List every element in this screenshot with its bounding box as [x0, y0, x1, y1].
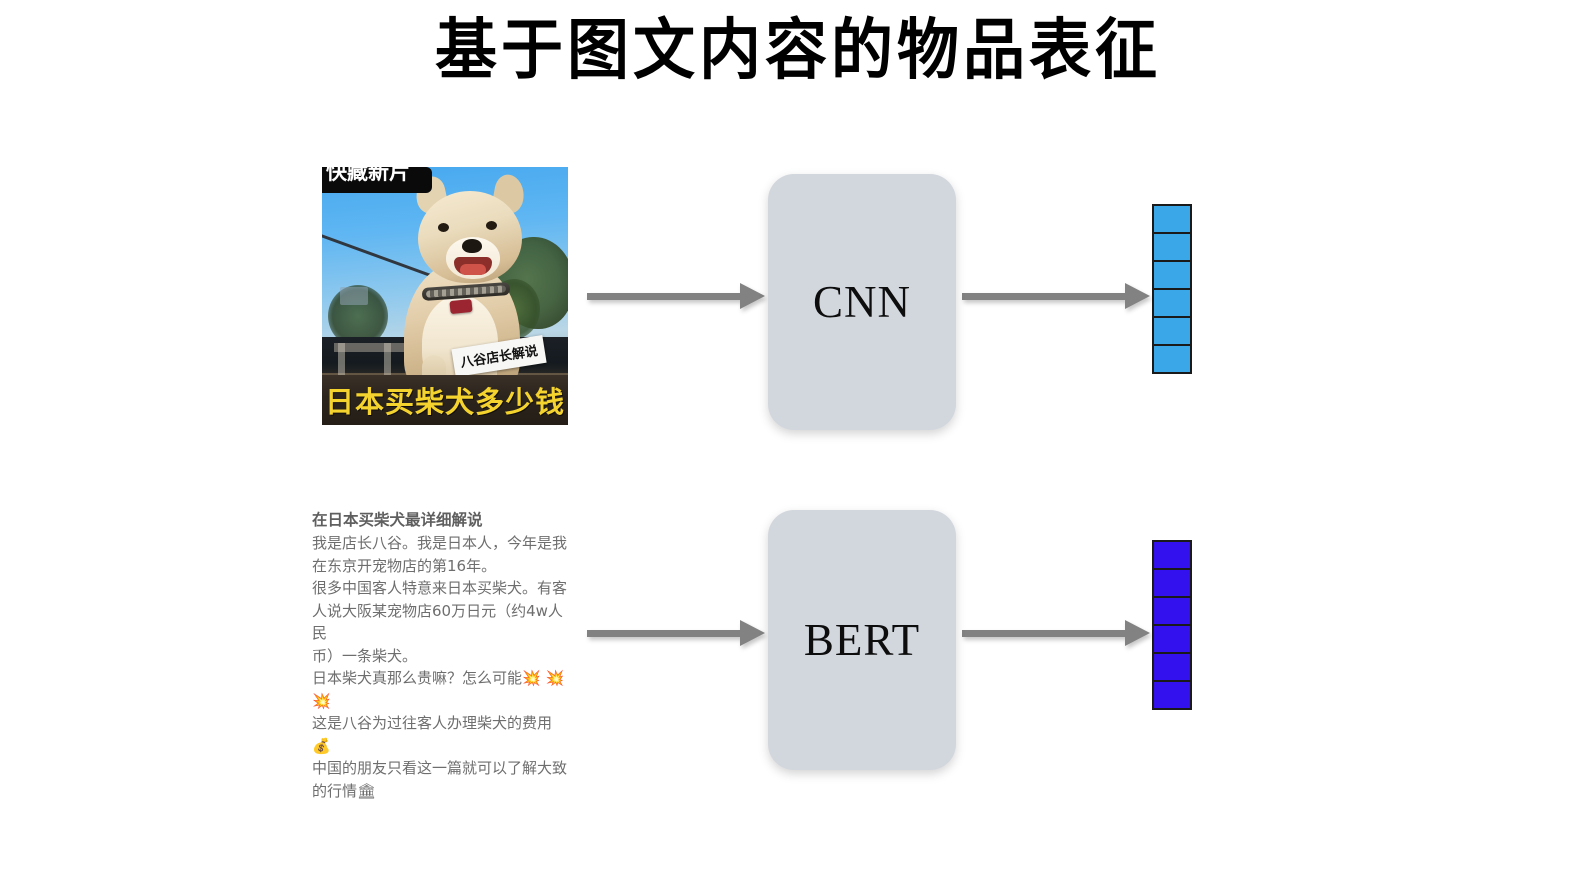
embedding-cell — [1152, 624, 1192, 654]
text-input-block: 在日本买柴犬最详细解说 我是店长八谷。我是日本人，今年是我 在东京开宠物店的第1… — [312, 509, 570, 802]
arrow-text-to-bert — [587, 620, 765, 646]
bert-model-box: BERT — [768, 510, 956, 770]
text-input-line: 很多中国客人特意来日本买柴犬。有客 — [312, 577, 570, 600]
text-input-line: 的行情🏛 — [312, 780, 570, 803]
text-input-line: 在东京开宠物店的第16年。 — [312, 555, 570, 578]
bert-model-label: BERT — [804, 614, 920, 666]
arrow-head — [1125, 620, 1150, 646]
cnn-model-label: CNN — [813, 276, 911, 328]
arrow-head — [1125, 283, 1150, 309]
dog-tag-icon — [449, 299, 472, 314]
thumbnail-caption-text: 日本买柴犬多少钱 — [325, 379, 565, 421]
collar-studs — [426, 285, 506, 298]
cnn-model-box: CNN — [768, 174, 956, 430]
embedding-cell — [1152, 288, 1192, 318]
thumbnail-caption-band: 日本买柴犬多少钱 — [322, 375, 568, 425]
embedding-cell — [1152, 596, 1192, 626]
arrow-shaft — [962, 293, 1127, 300]
text-input-line: 日本柴犬真那么贵嘛？怎么可能💥 💥 — [312, 667, 570, 690]
text-embedding-vector — [1152, 540, 1192, 710]
text-input-line: 💥 — [312, 690, 570, 713]
arrow-image-to-cnn — [587, 283, 765, 309]
embedding-cell — [1152, 344, 1192, 374]
image-embedding-vector — [1152, 204, 1192, 374]
image-input-thumbnail: 快藏新片 八谷店长解说 日本买柴犬多少钱 — [322, 167, 568, 425]
arrow-head — [740, 283, 765, 309]
arrow-shaft — [587, 293, 742, 300]
embedding-cell — [1152, 652, 1192, 682]
dog-nose — [462, 239, 482, 253]
arrow-shaft — [587, 630, 742, 637]
arrow-shaft — [962, 630, 1127, 637]
embedding-cell — [1152, 680, 1192, 710]
embedding-cell — [1152, 204, 1192, 234]
arrow-head — [740, 620, 765, 646]
arrow-cnn-to-image-vector — [962, 283, 1150, 309]
dog-eye-left — [438, 223, 449, 232]
embedding-cell — [1152, 316, 1192, 346]
embedding-cell — [1152, 568, 1192, 598]
arrow-bert-to-text-vector — [962, 620, 1150, 646]
dog-eye-right — [486, 221, 497, 230]
text-input-title: 在日本买柴犬最详细解说 — [312, 509, 570, 531]
embedding-cell — [1152, 232, 1192, 262]
dog-tongue — [460, 264, 486, 275]
dog-mouth — [454, 257, 492, 275]
page-title: 基于图文内容的物品表征 — [0, 14, 1596, 90]
text-input-line: 这是八谷为过往客人办理柴犬的费用💰 — [312, 712, 570, 757]
text-input-line: 人说大阪某宠物店60万日元（约4w人民 — [312, 600, 570, 645]
thumbnail-top-badge-label: 快藏新片 — [326, 167, 410, 186]
text-input-line: 我是店长八谷。我是日本人，今年是我 — [312, 532, 570, 555]
embedding-cell — [1152, 540, 1192, 570]
street-sign-icon — [340, 287, 368, 305]
text-input-line: 中国的朋友只看这一篇就可以了解大致 — [312, 757, 570, 780]
embedding-cell — [1152, 260, 1192, 290]
thumbnail-top-badge: 快藏新片 — [322, 167, 432, 193]
text-input-line: 币）一条柴犬。 — [312, 645, 570, 668]
